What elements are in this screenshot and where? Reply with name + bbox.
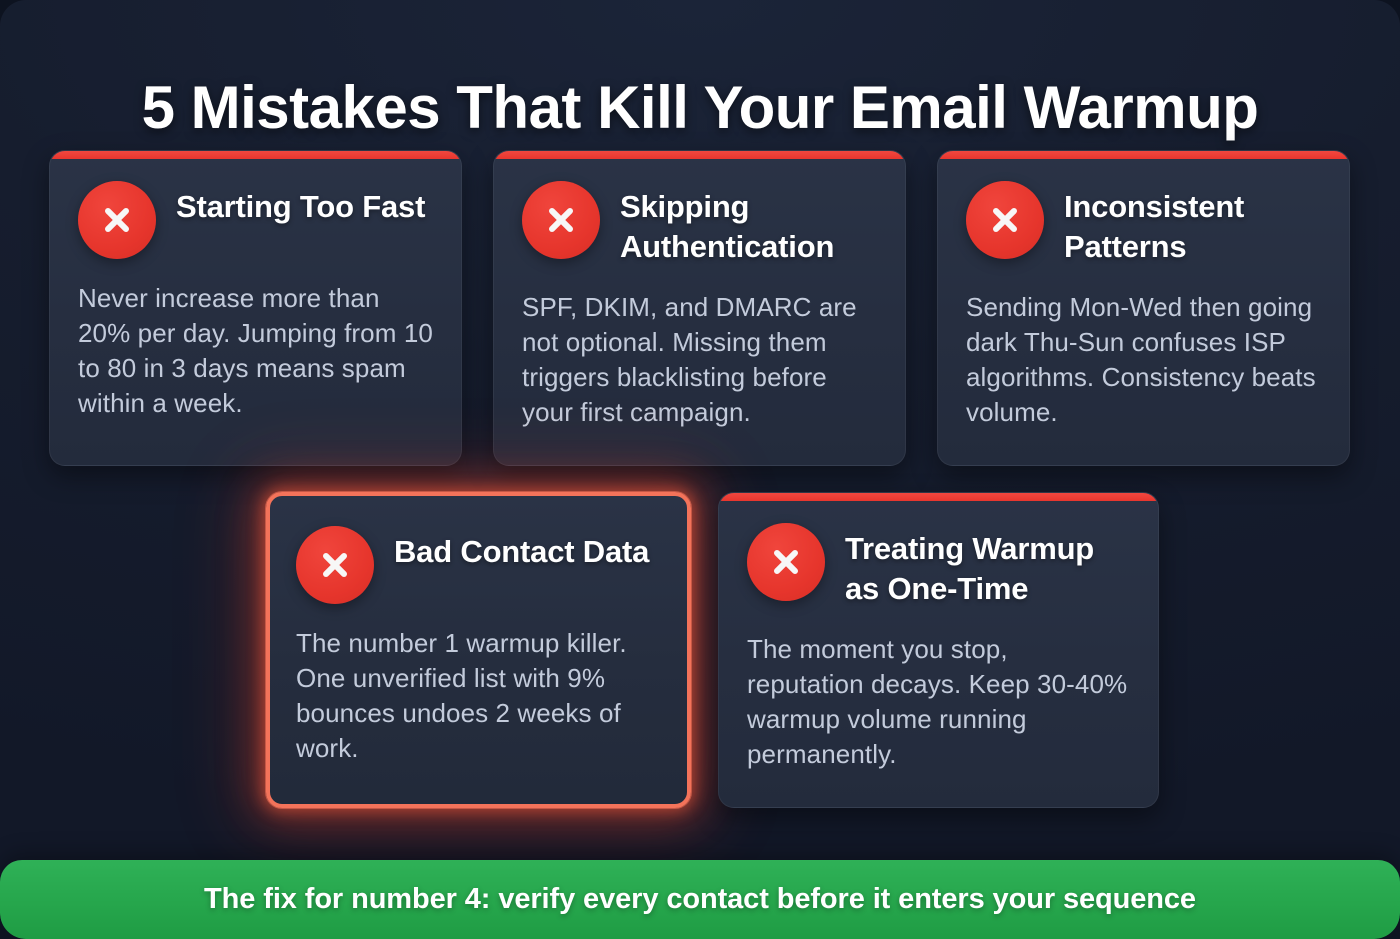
card-header: Treating Warmup as One-Time — [747, 523, 1130, 610]
infographic-canvas: 5 Mistakes That Kill Your Email Warmup S… — [0, 0, 1400, 939]
x-circle-icon — [78, 181, 156, 259]
x-circle-icon — [522, 181, 600, 259]
card-body: SPF, DKIM, and DMARC are not optional. M… — [522, 290, 877, 430]
card-title: Starting Too Fast — [176, 181, 425, 227]
card-accent-bar — [50, 151, 461, 159]
card-header: Starting Too Fast — [78, 181, 433, 259]
card-title: Treating Warmup as One-Time — [845, 523, 1130, 610]
card-accent-bar — [719, 493, 1158, 501]
card-body: The moment you stop, reputation decays. … — [747, 632, 1130, 772]
card-header: Inconsistent Patterns — [966, 181, 1321, 268]
mistake-card-starting-too-fast[interactable]: Starting Too Fast Never increase more th… — [49, 150, 462, 466]
footer-banner: The fix for number 4: verify every conta… — [0, 860, 1400, 939]
x-circle-icon — [747, 523, 825, 601]
x-circle-icon — [966, 181, 1044, 259]
card-title: Skipping Authentication — [620, 181, 877, 268]
mistake-card-skipping-authentication[interactable]: Skipping Authentication SPF, DKIM, and D… — [493, 150, 906, 466]
card-header: Bad Contact Data — [296, 526, 661, 604]
card-body: The number 1 warmup killer. One unverifi… — [296, 626, 661, 766]
card-row-bottom: Bad Contact Data The number 1 warmup kil… — [266, 492, 1159, 808]
footer-text: The fix for number 4: verify every conta… — [204, 883, 1196, 916]
card-body: Sending Mon-Wed then going dark Thu-Sun … — [966, 290, 1321, 430]
mistake-card-bad-contact-data[interactable]: Bad Contact Data The number 1 warmup kil… — [266, 492, 691, 808]
card-header: Skipping Authentication — [522, 181, 877, 268]
card-row-top: Starting Too Fast Never increase more th… — [49, 150, 1351, 466]
card-accent-bar — [494, 151, 905, 159]
card-body: Never increase more than 20% per day. Ju… — [78, 281, 433, 421]
mistake-card-treating-warmup-as-one-time[interactable]: Treating Warmup as One-Time The moment y… — [718, 492, 1159, 808]
card-title: Bad Contact Data — [394, 526, 649, 572]
card-accent-bar — [938, 151, 1349, 159]
x-circle-icon — [296, 526, 374, 604]
page-title: 5 Mistakes That Kill Your Email Warmup — [142, 76, 1259, 139]
card-title: Inconsistent Patterns — [1064, 181, 1321, 268]
mistake-card-inconsistent-patterns[interactable]: Inconsistent Patterns Sending Mon-Wed th… — [937, 150, 1350, 466]
